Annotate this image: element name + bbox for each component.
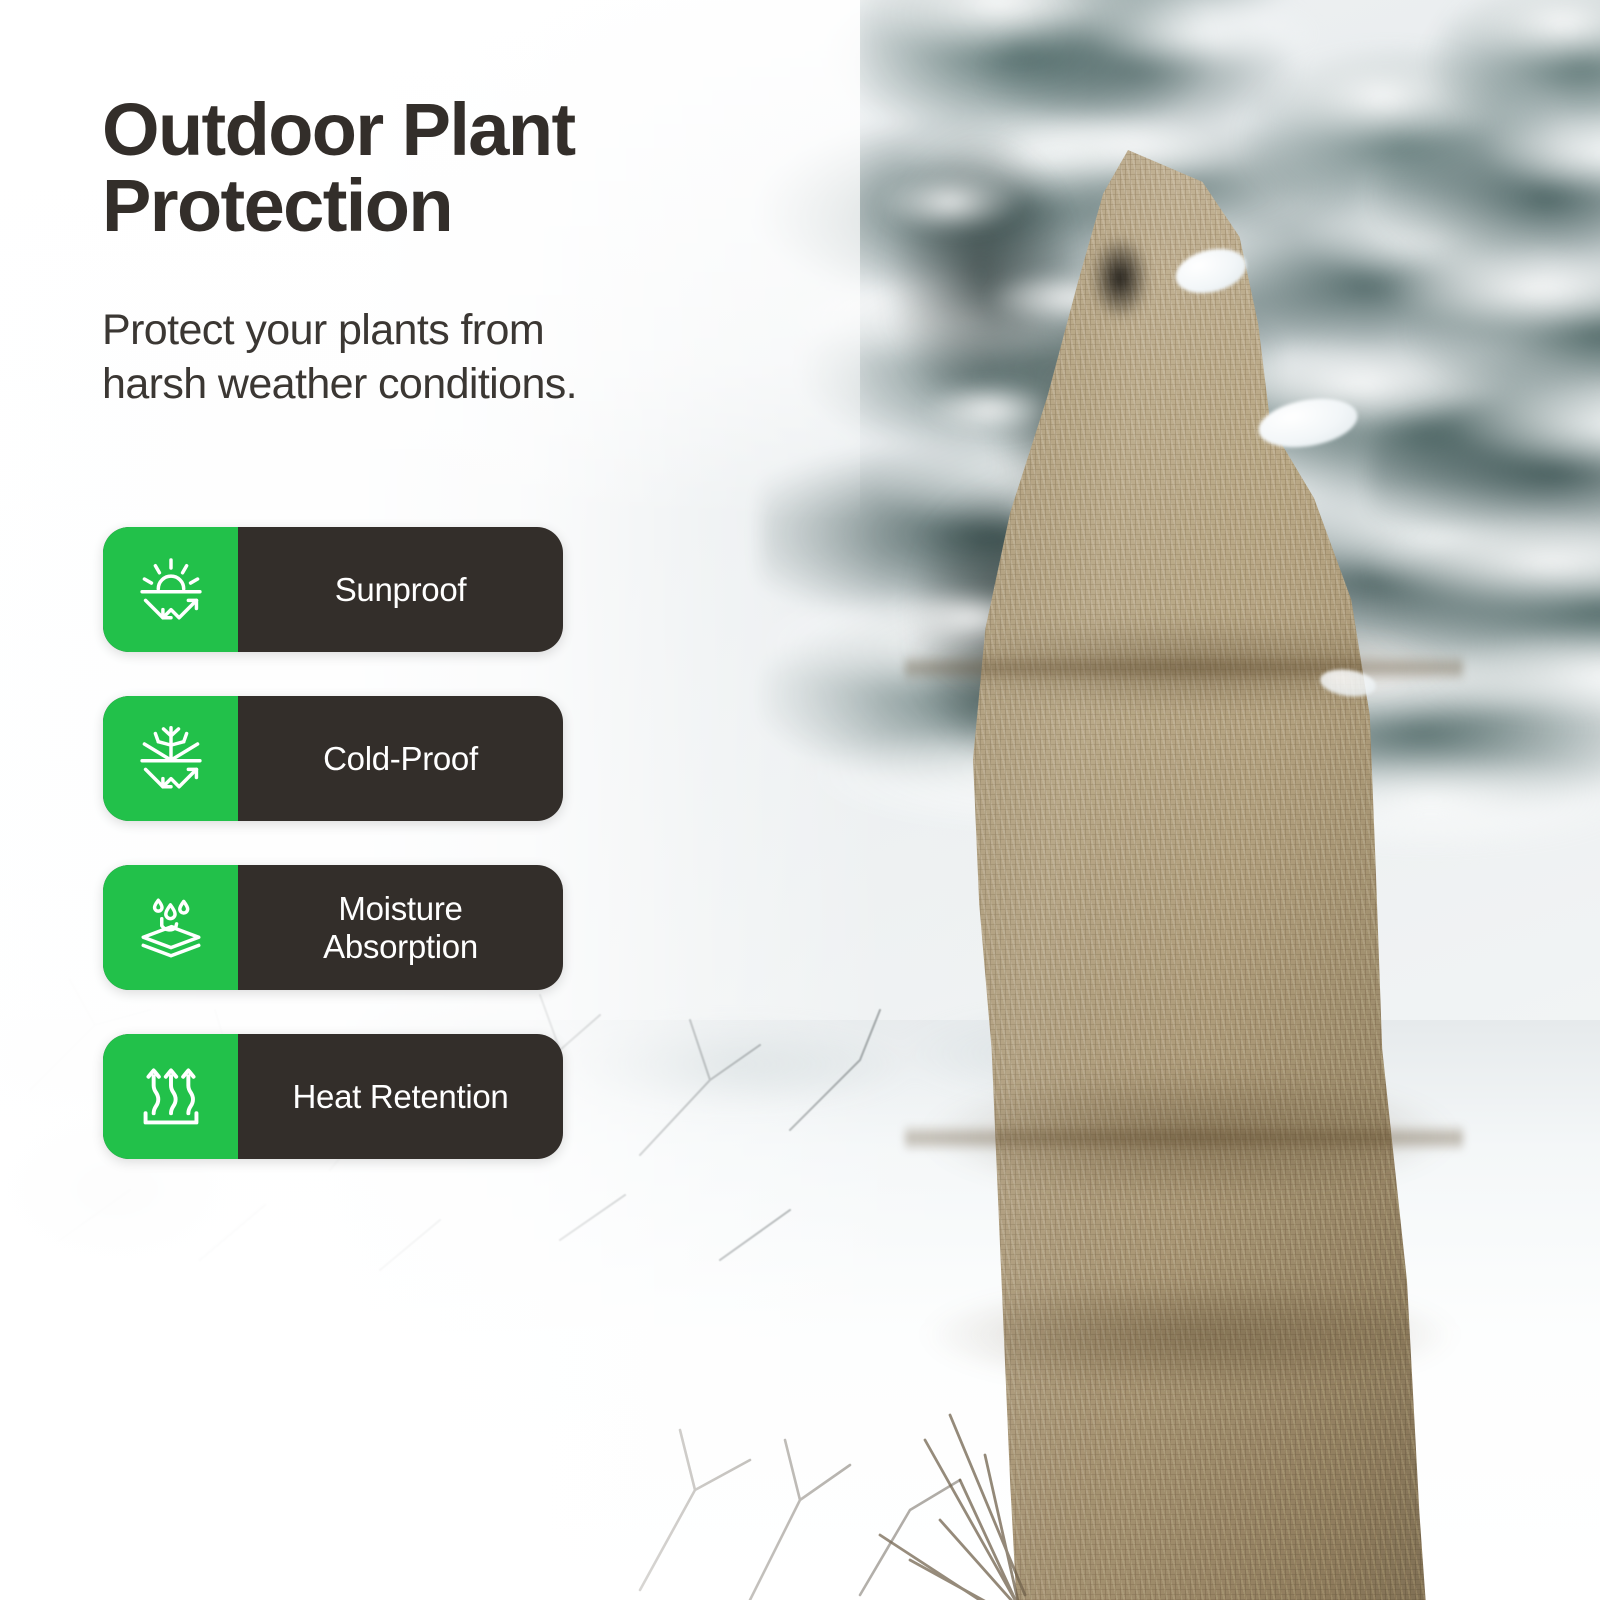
feature-badge-label: Sunproof xyxy=(238,527,563,652)
page-title: Outdoor Plant Protection xyxy=(102,92,822,244)
feature-badge-label: Moisture Absorption xyxy=(238,865,563,990)
feature-badge-list: Sunproof Cold-Proof xyxy=(103,527,563,1203)
snowflake-protection-icon xyxy=(103,696,238,821)
feature-badge-cold-proof[interactable]: Cold-Proof xyxy=(103,696,563,821)
feature-badge-label: Cold-Proof xyxy=(238,696,563,821)
feature-badge-sunproof[interactable]: Sunproof xyxy=(103,527,563,652)
page-subtitle: Protect your plants from harsh weather c… xyxy=(102,304,762,412)
sun-uv-protection-icon xyxy=(103,527,238,652)
feature-badge-heat-retention[interactable]: Heat Retention xyxy=(103,1034,563,1159)
feature-badge-label: Heat Retention xyxy=(238,1034,563,1159)
feature-badge-moisture-absorption[interactable]: Moisture Absorption xyxy=(103,865,563,990)
water-droplet-layers-icon xyxy=(103,865,238,990)
rising-heat-waves-icon xyxy=(103,1034,238,1159)
